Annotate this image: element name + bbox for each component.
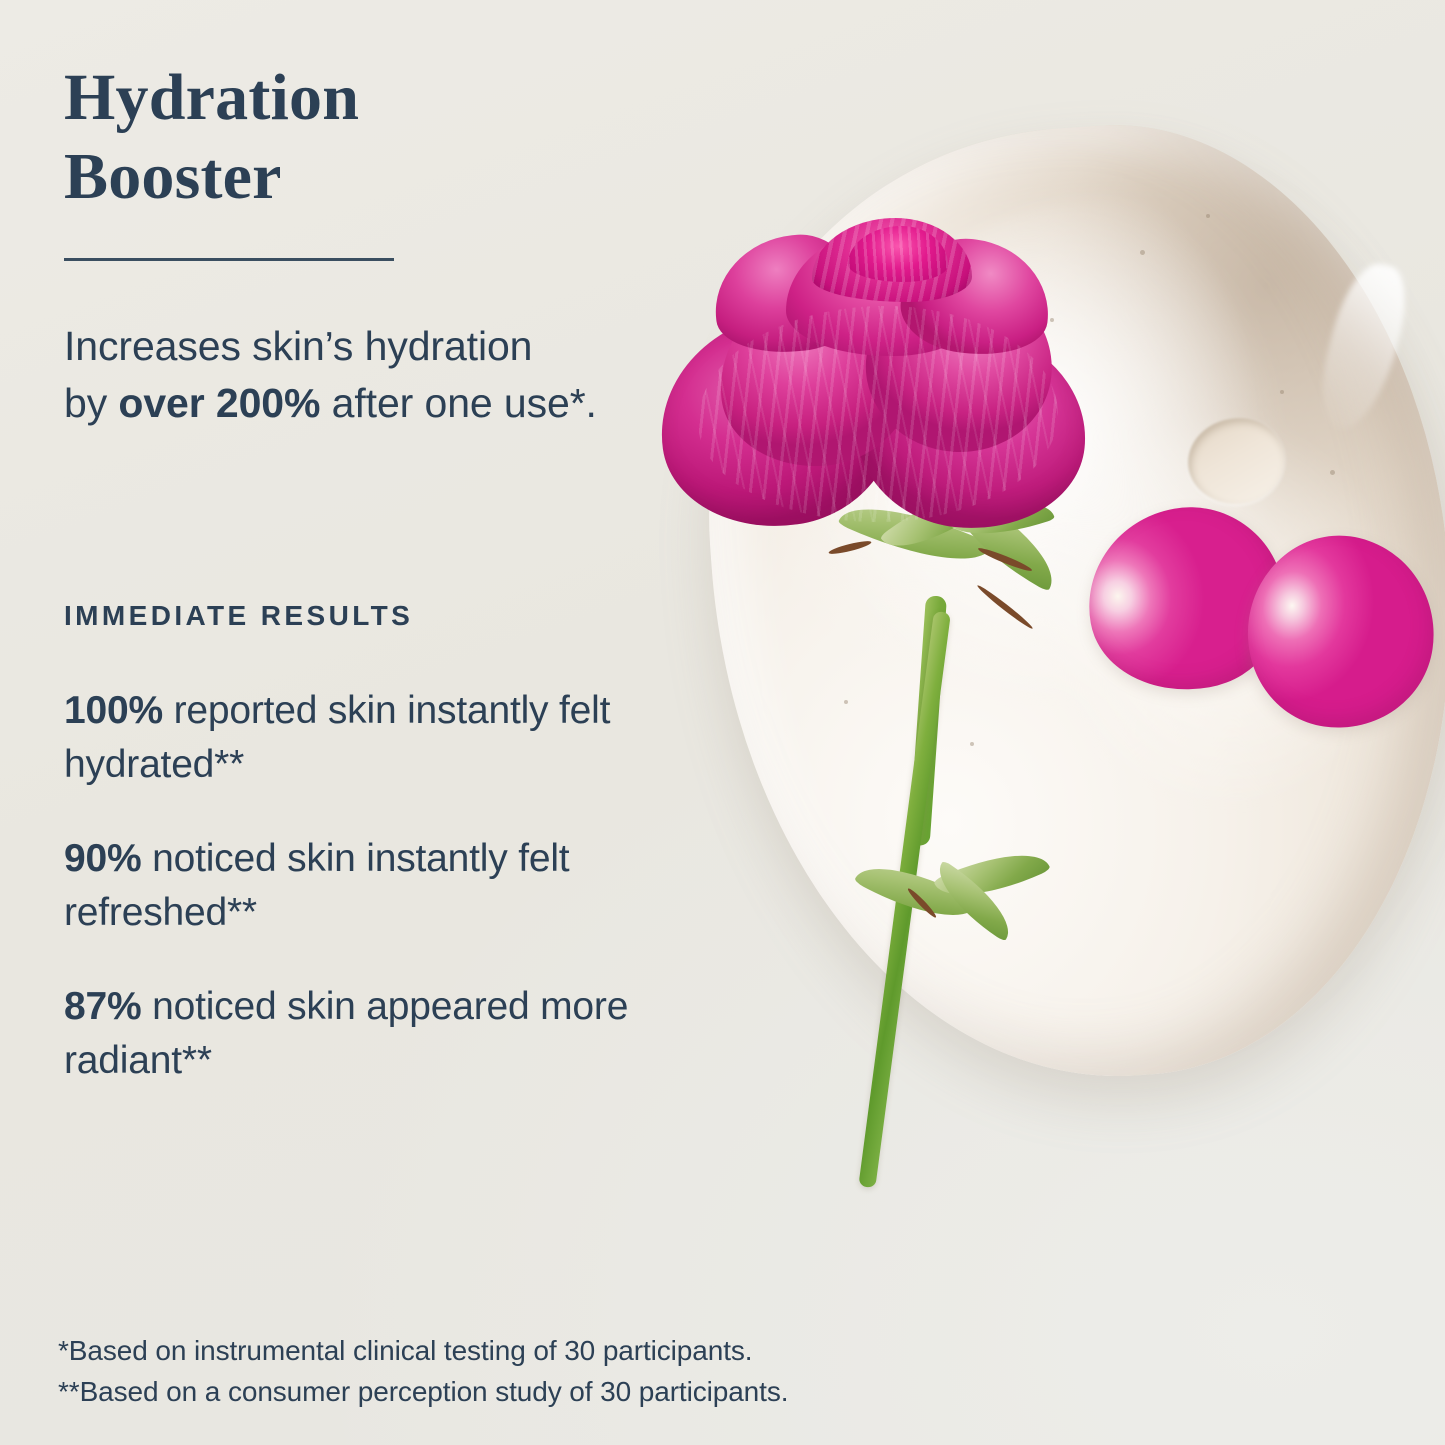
result-item: 90% noticed skin instantly felt refreshe… — [64, 832, 754, 940]
footnote-double-star: **Based on a consumer perception study o… — [58, 1371, 1018, 1412]
water-speck — [844, 700, 848, 704]
result-item: 100% reported skin instantly felt hydrat… — [64, 684, 754, 792]
result-value: 100% — [64, 689, 163, 732]
section-label-immediate-results: IMMEDIATE RESULTS — [64, 600, 413, 632]
subtitle-prefix: by — [64, 380, 118, 426]
result-value: 87% — [64, 985, 141, 1028]
title-line-2: Booster — [64, 140, 282, 213]
result-item: 87% noticed skin appeared more radiant** — [64, 980, 754, 1088]
subtitle-emphasis: over 200% — [118, 380, 320, 426]
result-value: 90% — [64, 837, 141, 880]
title-divider — [64, 258, 394, 261]
footnote-single-star: *Based on instrumental clinical testing … — [58, 1330, 1018, 1371]
footnotes: *Based on instrumental clinical testing … — [58, 1330, 1018, 1412]
subtitle-lead: Increases skin’s hydration — [64, 323, 532, 369]
ad-panel: Hydration Booster Increases skin’s hydra… — [0, 0, 1445, 1445]
water-speck — [970, 742, 974, 746]
product-photo — [640, 0, 1445, 1445]
results-list: 100% reported skin instantly felt hydrat… — [64, 684, 754, 1128]
page-title: Hydration Booster — [64, 58, 684, 216]
water-speck — [1330, 470, 1335, 475]
water-speck — [1280, 390, 1284, 394]
result-text: noticed skin appeared more radiant** — [64, 985, 628, 1082]
copy-column: Hydration Booster Increases skin’s hydra… — [0, 0, 760, 1445]
water-speck — [1140, 250, 1145, 255]
glaze-droplet — [1188, 418, 1284, 504]
subtitle: Increases skin’s hydration by over 200% … — [64, 318, 764, 432]
water-speck — [1206, 214, 1210, 218]
subtitle-suffix: after one use*. — [320, 380, 596, 426]
title-line-1: Hydration — [64, 61, 359, 134]
